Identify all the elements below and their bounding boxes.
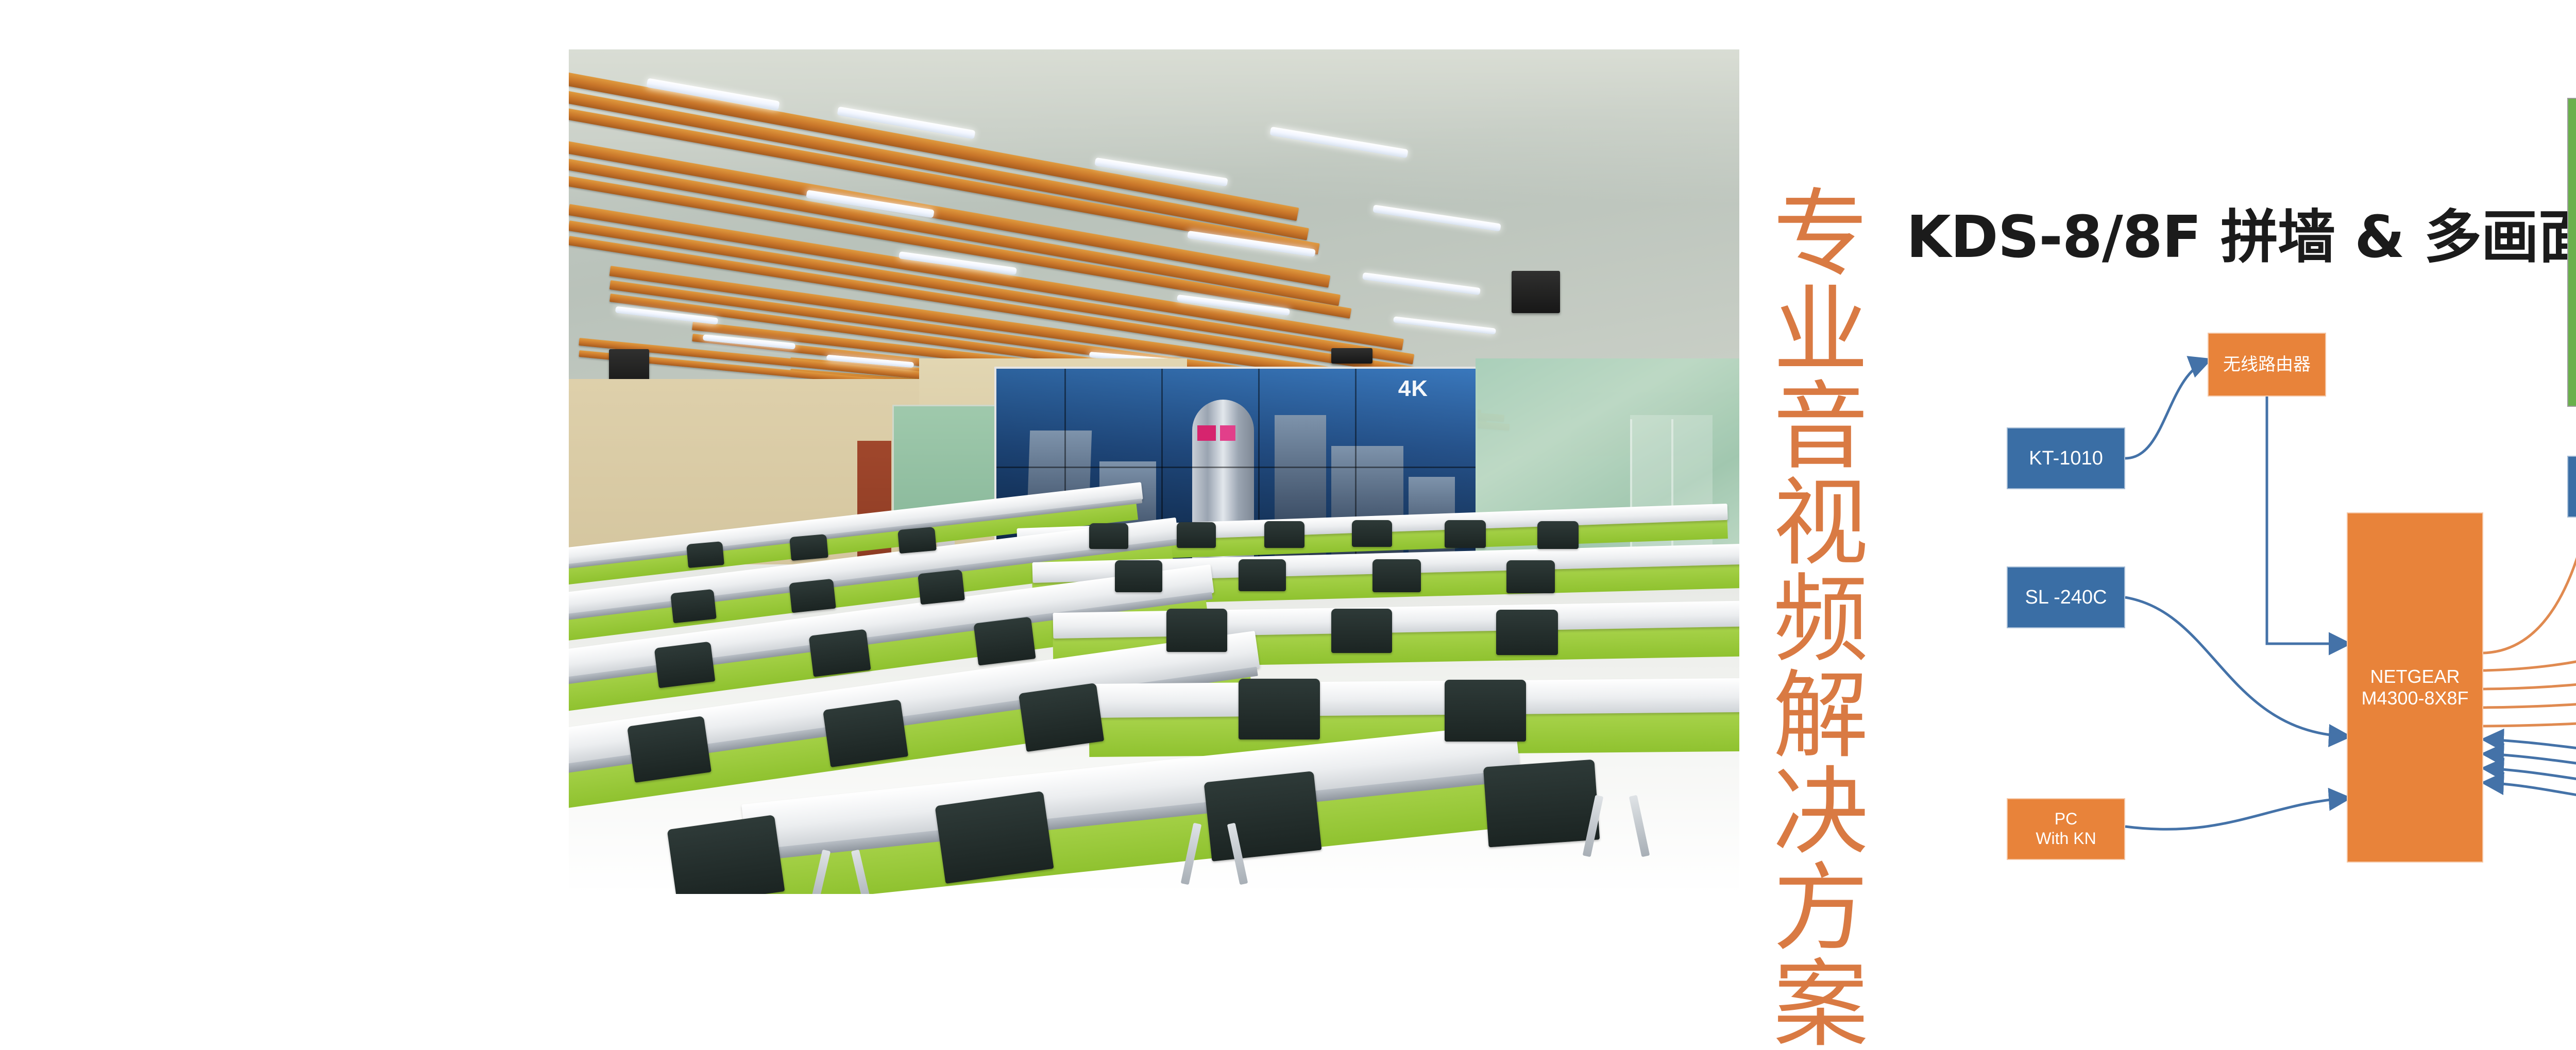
- classroom-photo: 4K 3,840 x 2,160: [569, 49, 1739, 894]
- node-netgear-switch[interactable]: NETGEAR M4300-8X8F: [2347, 512, 2483, 863]
- slide-canvas: 4K 3,840 x 2,160: [0, 0, 2576, 964]
- chair: [1239, 679, 1320, 739]
- node-label-line2: With KN: [2036, 829, 2096, 849]
- node-decoder-multiview-kds-8f[interactable]: KDS-8F: [2567, 456, 2576, 518]
- chair: [918, 570, 965, 605]
- chair: [1331, 609, 1392, 653]
- chair: [1483, 760, 1600, 848]
- node-label-line1: NETGEAR: [2370, 666, 2460, 687]
- chair: [1204, 771, 1322, 862]
- chair: [1115, 560, 1162, 592]
- chair: [935, 791, 1054, 884]
- desk: [1089, 678, 1739, 718]
- chair: [1177, 522, 1216, 548]
- videowall-4k-label: 4K: [1398, 376, 1428, 402]
- node-sl-240c[interactable]: SL -240C: [2007, 566, 2125, 628]
- chair: [1506, 560, 1555, 593]
- chair: [1239, 559, 1286, 591]
- chair: [1352, 520, 1392, 547]
- chair: [1372, 559, 1421, 592]
- ceiling-speaker: [1331, 348, 1372, 364]
- chair: [823, 699, 908, 767]
- vertical-headline: 专业音视频解决方案: [1737, 183, 1861, 1050]
- chair: [1264, 521, 1304, 548]
- chair: [973, 616, 1036, 665]
- chair: [686, 541, 724, 568]
- system-diagram: KDS-8/8F 拼墙 & 多画面: [1906, 67, 2576, 901]
- chair: [789, 534, 828, 561]
- chair: [627, 716, 711, 783]
- node-pc-with-kn[interactable]: PC With KN: [2007, 798, 2125, 860]
- chair: [654, 642, 716, 688]
- chair: [789, 579, 836, 613]
- chair: [1537, 521, 1579, 549]
- chair: [809, 629, 871, 677]
- chair: [1166, 609, 1227, 652]
- chair: [1496, 610, 1558, 655]
- chair: [1019, 683, 1104, 752]
- node-label-line2: M4300-8X8F: [2361, 687, 2468, 709]
- node-label: 无线路由器: [2223, 354, 2311, 375]
- chair: [1089, 523, 1128, 549]
- display-multiview-4k-tv[interactable]: 多画面 4K电视机 - 1: [2567, 98, 2576, 407]
- node-wireless-router[interactable]: 无线路由器: [2208, 333, 2326, 397]
- node-kt-1010[interactable]: KT-1010: [2007, 427, 2125, 489]
- chair: [670, 589, 717, 623]
- node-label: SL -240C: [2025, 586, 2107, 609]
- ceiling-speaker: [1512, 271, 1560, 313]
- node-label-line1: PC: [2055, 810, 2077, 829]
- chair: [897, 527, 937, 554]
- chair: [1445, 520, 1486, 548]
- node-label: KT-1010: [2029, 447, 2103, 470]
- chair: [1445, 680, 1526, 742]
